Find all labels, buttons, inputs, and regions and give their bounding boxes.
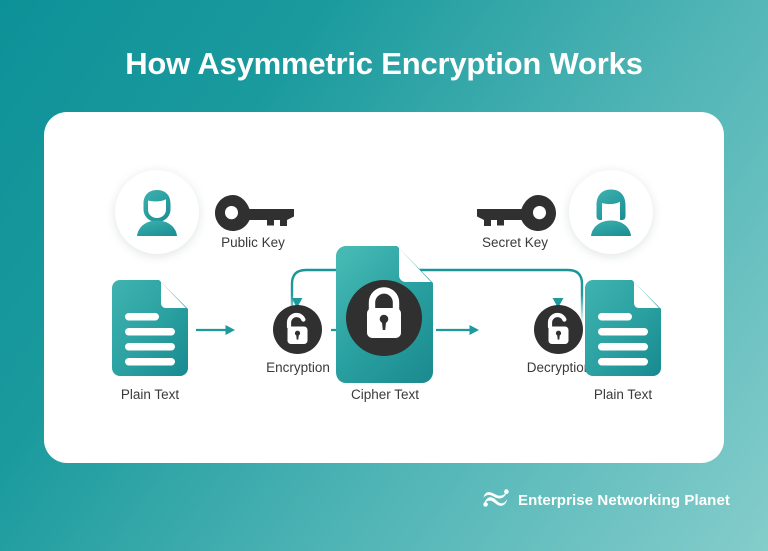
footer: Enterprise Networking Planet	[0, 489, 768, 512]
document-icon	[585, 280, 661, 376]
plain-text-left-label: Plain Text	[60, 387, 240, 402]
unlocked-padlock-icon	[273, 305, 322, 354]
encryption-lock-badge	[273, 305, 322, 359]
cipher-text-document	[336, 246, 433, 388]
unlocked-padlock-icon	[534, 305, 583, 354]
cipher-text-label: Cipher Text	[295, 387, 475, 402]
document-locked-icon	[336, 246, 433, 383]
plain-text-right-document	[585, 280, 661, 381]
enterprise-networking-planet-logo-icon	[483, 489, 509, 512]
male-user-avatar-icon	[133, 187, 181, 237]
plain-text-left-document	[112, 280, 188, 381]
ciphertext-to-decryption-arrow	[436, 323, 480, 342]
female-user-avatar-icon	[587, 187, 635, 237]
secret-key-icon	[476, 195, 556, 236]
diagram-card: Public Key Secret Key	[44, 112, 724, 463]
plain-text-right-label: Plain Text	[533, 387, 713, 402]
brand-name: Enterprise Networking Planet	[518, 492, 730, 509]
public-key-label: Public Key	[163, 235, 343, 250]
decryption-lock-badge	[534, 305, 583, 359]
page-title: How Asymmetric Encryption Works	[0, 46, 768, 82]
infographic-canvas: How Asymmetric Encryption Works	[0, 0, 768, 551]
document-icon	[112, 280, 188, 376]
plaintext-to-encryption-arrow	[196, 323, 236, 342]
public-key-icon	[215, 195, 295, 236]
secret-key-label: Secret Key	[425, 235, 605, 250]
